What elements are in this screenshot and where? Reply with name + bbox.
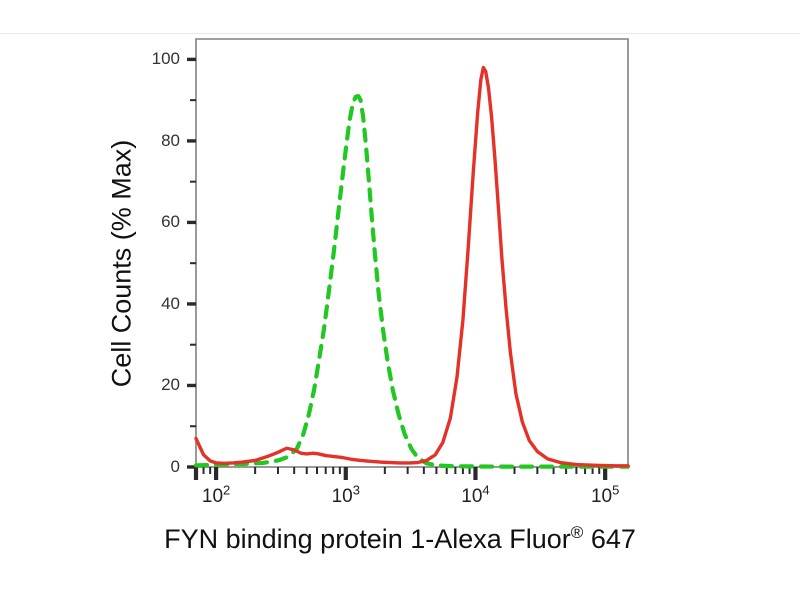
- x-axis-title-suffix: 647: [583, 524, 636, 554]
- x-axis-title-main: FYN binding protein 1-Alexa Fluor: [164, 524, 571, 554]
- flow-cytometry-figure: Cell Counts (% Max) FYN binding protein …: [0, 0, 800, 600]
- x-tick-exponent: 5: [612, 483, 619, 498]
- y-axis-title: Cell Counts (% Max): [107, 54, 138, 474]
- x-tick-mantissa: 10: [591, 486, 612, 507]
- x-axis-title: FYN binding protein 1-Alexa Fluor® 647: [0, 524, 800, 555]
- x-tick-mantissa: 10: [202, 486, 223, 507]
- x-tick-label: 104: [445, 487, 505, 506]
- axis-ticks: [187, 59, 605, 480]
- top-divider: [0, 33, 800, 34]
- y-tick-label: 60: [126, 213, 180, 230]
- x-tick-label: 102: [186, 487, 246, 506]
- series-line-1: [196, 96, 628, 467]
- x-tick-label: 103: [316, 487, 376, 506]
- series-line-2: [196, 68, 628, 466]
- x-tick-exponent: 4: [482, 483, 489, 498]
- x-tick-mantissa: 10: [461, 486, 482, 507]
- y-tick-label: 0: [126, 458, 180, 475]
- y-tick-label: 80: [126, 132, 180, 149]
- y-tick-label: 20: [126, 376, 180, 393]
- registered-trademark-symbol: ®: [571, 523, 584, 542]
- x-tick-mantissa: 10: [332, 486, 353, 507]
- y-tick-label: 40: [126, 295, 180, 312]
- x-tick-exponent: 2: [223, 483, 230, 498]
- x-tick-exponent: 3: [353, 483, 360, 498]
- plot-frame: [196, 39, 628, 467]
- data-series-group: [196, 68, 628, 467]
- x-tick-label: 105: [575, 487, 635, 506]
- y-tick-label: 100: [126, 50, 180, 67]
